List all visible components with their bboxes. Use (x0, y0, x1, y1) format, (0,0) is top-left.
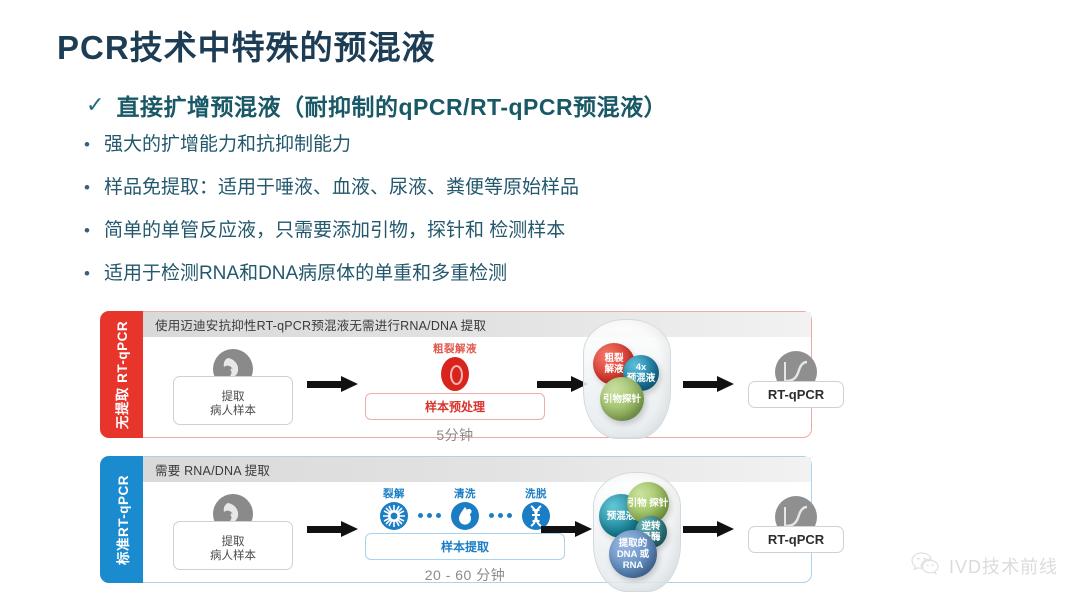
reaction-tube-standard: 预混液 引物 探针 逆转录酶 提取的DNA 或RNA (593, 472, 679, 590)
reaction-tube-extraction-free: 粗裂解液 4x预混液 引物探针 (583, 319, 669, 437)
sphere-label: 引物 探针 (628, 498, 669, 509)
step-label-box: 样本提取 (365, 533, 565, 560)
list-item: • 样品免提取：适用于唾液、血液、尿液、粪便等原始样品 (84, 174, 944, 202)
step-label-line1: 提取 (180, 535, 286, 549)
panel-header-band: 使用迈迪安抗抑性RT-qPCR预混液无需进行RNA/DNA 提取 (143, 312, 811, 337)
burst-icon (380, 502, 408, 530)
step-label-box: 样本预处理 (365, 393, 545, 420)
flow-arrow-icon (683, 522, 735, 536)
workflow-panel-extraction-free: 无提取 RT-qPCR 使用迈迪安抗抑性RT-qPCR预混液无需进行RNA/DN… (100, 311, 812, 438)
step-sample-extraction: 裂解 (365, 486, 565, 585)
bullet-text: 样品免提取：适用于唾液、血液、尿液、粪便等原始样品 (104, 174, 579, 202)
step-caption: 洗脱 (513, 486, 559, 501)
step-sample-pretreatment: 粗裂解液 样本预处理 5分钟 (365, 341, 545, 445)
extraction-step-wash: 清洗 (442, 486, 488, 530)
panel-header-band: 需要 RNA/DNA 提取 (143, 457, 811, 482)
step-label-line1: 提取 (180, 390, 286, 404)
step-label-box: 提取 病人样本 (173, 521, 293, 570)
step-label-box: RT-qPCR (748, 381, 844, 408)
panel-tab-extraction-free: 无提取 RT-qPCR (100, 311, 143, 438)
bullet-text: 简单的单管反应液，只需要添加引物，探针和 检测样本 (104, 217, 565, 245)
step-caption: 粗裂解液 (365, 341, 545, 356)
sphere-primers-probes: 引物探针 (600, 377, 644, 421)
wechat-icon (911, 551, 941, 580)
panel-flow: 提取 病人样本 裂解 (143, 482, 811, 582)
step-label-line2: 病人样本 (180, 549, 286, 563)
watermark-text: IVD技术前线 (949, 553, 1058, 579)
slide-root: PCR技术中特殊的预混液 ✓ 直接扩增预混液（耐抑制的qPCR/RT-qPCR预… (0, 0, 1080, 608)
list-item: • 强大的扩增能力和抗抑制能力 (84, 131, 944, 159)
step-rt-qpcr-result: RT-qPCR (748, 496, 844, 553)
list-item: • 适用于检测RNA和DNA病原体的单重和多重检测 (84, 260, 944, 288)
panel-tab-label: 标准RT-qPCR (112, 475, 132, 565)
step-duration: 20 - 60 分钟 (365, 565, 565, 585)
sphere-label: 提取的DNA 或RNA (617, 538, 649, 571)
bullet-marker-icon: • (84, 217, 90, 245)
extraction-icon-row: 裂解 (365, 486, 565, 530)
flow-arrow-icon (307, 377, 359, 391)
panel-body: 使用迈迪安抗抑性RT-qPCR预混液无需进行RNA/DNA 提取 提取 (143, 311, 812, 438)
panel-header-text: 需要 RNA/DNA 提取 (143, 460, 270, 479)
subtitle-text: 直接扩增预混液（耐抑制的qPCR/RT-qPCR预混液） (116, 88, 667, 122)
panel-tab-label: 无提取 RT-qPCR (112, 320, 132, 428)
panel-body: 需要 RNA/DNA 提取 提取 病人样本 (143, 456, 812, 583)
droplet-icon (451, 502, 479, 530)
flow-arrow-icon (683, 377, 735, 391)
step-duration: 5分钟 (365, 425, 545, 445)
bullet-marker-icon: • (84, 174, 90, 202)
workflow-panel-standard: 标准RT-qPCR 需要 RNA/DNA 提取 (100, 456, 812, 583)
sphere-label: 粗裂解液 (604, 353, 623, 375)
panel-flow: 提取 病人样本 粗裂解液 样本预处理 5分钟 (143, 337, 811, 437)
bullet-text: 强大的扩增能力和抗抑制能力 (104, 131, 351, 159)
step-rt-qpcr-result: RT-qPCR (748, 351, 844, 408)
extraction-step-lysis: 裂解 (371, 486, 417, 530)
flow-arrow-icon (541, 522, 593, 536)
bullet-list: • 强大的扩增能力和抗抑制能力 • 样品免提取：适用于唾液、血液、尿液、粪便等原… (84, 131, 944, 303)
watermark: IVD技术前线 (911, 551, 1058, 580)
lysis-buffer-icon (441, 357, 469, 391)
panel-tab-standard: 标准RT-qPCR (100, 456, 143, 583)
check-icon: ✓ (86, 94, 104, 116)
step-caption: 裂解 (371, 486, 417, 501)
flow-arrow-icon (307, 522, 359, 536)
sphere-extracted-nucleic-acid: 提取的DNA 或RNA (609, 530, 657, 578)
step-caption: 清洗 (442, 486, 488, 501)
step-patient-sample: 提取 病人样本 (173, 349, 293, 425)
connector-dots-icon (418, 513, 441, 530)
panel-header-text: 使用迈迪安抗抑性RT-qPCR预混液无需进行RNA/DNA 提取 (143, 315, 486, 334)
page-title: PCR技术中特殊的预混液 (57, 21, 436, 69)
step-label-box: 提取 病人样本 (173, 376, 293, 425)
list-item: • 简单的单管反应液，只需要添加引物，探针和 检测样本 (84, 217, 944, 245)
bullet-marker-icon: • (84, 260, 90, 288)
bullet-marker-icon: • (84, 131, 90, 159)
workflow-diagram: 无提取 RT-qPCR 使用迈迪安抗抑性RT-qPCR预混液无需进行RNA/DN… (100, 311, 812, 583)
step-patient-sample: 提取 病人样本 (173, 494, 293, 570)
flow-arrow-icon (537, 377, 589, 391)
connector-dots-icon (489, 513, 512, 530)
sphere-label: 引物探针 (603, 394, 641, 405)
step-label-line2: 病人样本 (180, 404, 286, 418)
step-label-box: RT-qPCR (748, 526, 844, 553)
subtitle-row: ✓ 直接扩增预混液（耐抑制的qPCR/RT-qPCR预混液） (86, 88, 667, 122)
bullet-text: 适用于检测RNA和DNA病原体的单重和多重检测 (104, 260, 507, 288)
